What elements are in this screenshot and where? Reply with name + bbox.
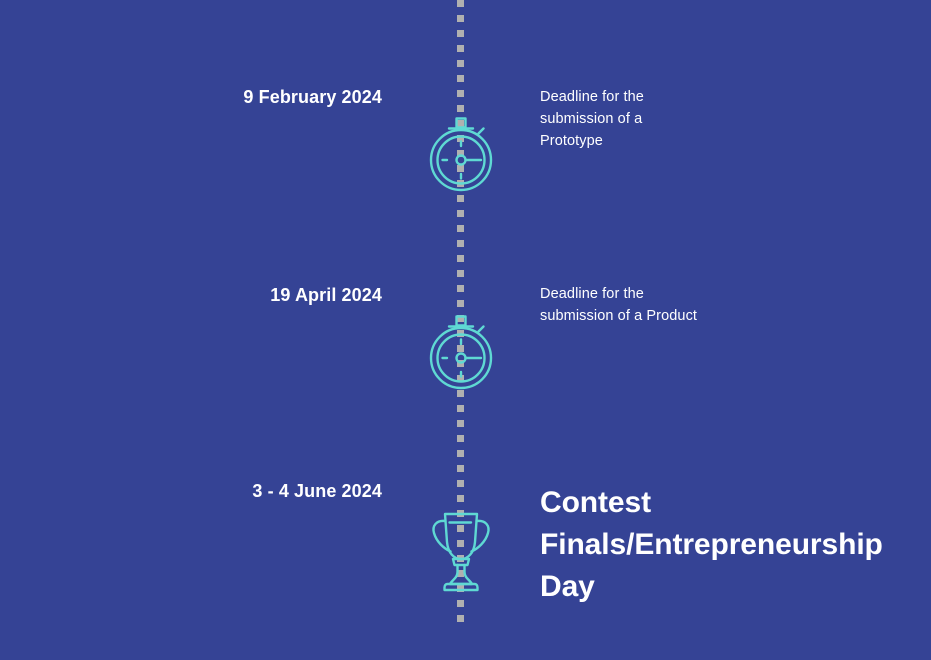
milestone-date-finals: 3 - 4 June 2024 <box>0 478 382 504</box>
description-line: Contest <box>540 482 920 524</box>
milestone-description-prototype: Deadline for the submission of a Prototy… <box>540 86 920 152</box>
milestone-description-product: Deadline for the submission of a Product <box>540 283 920 327</box>
description-line: Prototype <box>540 130 920 152</box>
description-line: Finals/Entrepreneurship <box>540 524 920 566</box>
milestone-date-prototype: 9 February 2024 <box>0 84 382 110</box>
trophy-icon <box>421 500 501 600</box>
stopwatch-icon <box>421 108 501 198</box>
milestone-date-product: 19 April 2024 <box>0 282 382 308</box>
timeline: 9 February 2024 <box>0 0 931 660</box>
stopwatch-icon <box>421 306 501 396</box>
description-line: submission of a Product <box>540 305 920 327</box>
description-line: Deadline for the <box>540 283 920 305</box>
milestone-description-finals: Contest Finals/Entrepreneurship Day <box>540 482 920 608</box>
description-line: Deadline for the <box>540 86 920 108</box>
description-line: Day <box>540 566 920 608</box>
description-line: submission of a <box>540 108 920 130</box>
